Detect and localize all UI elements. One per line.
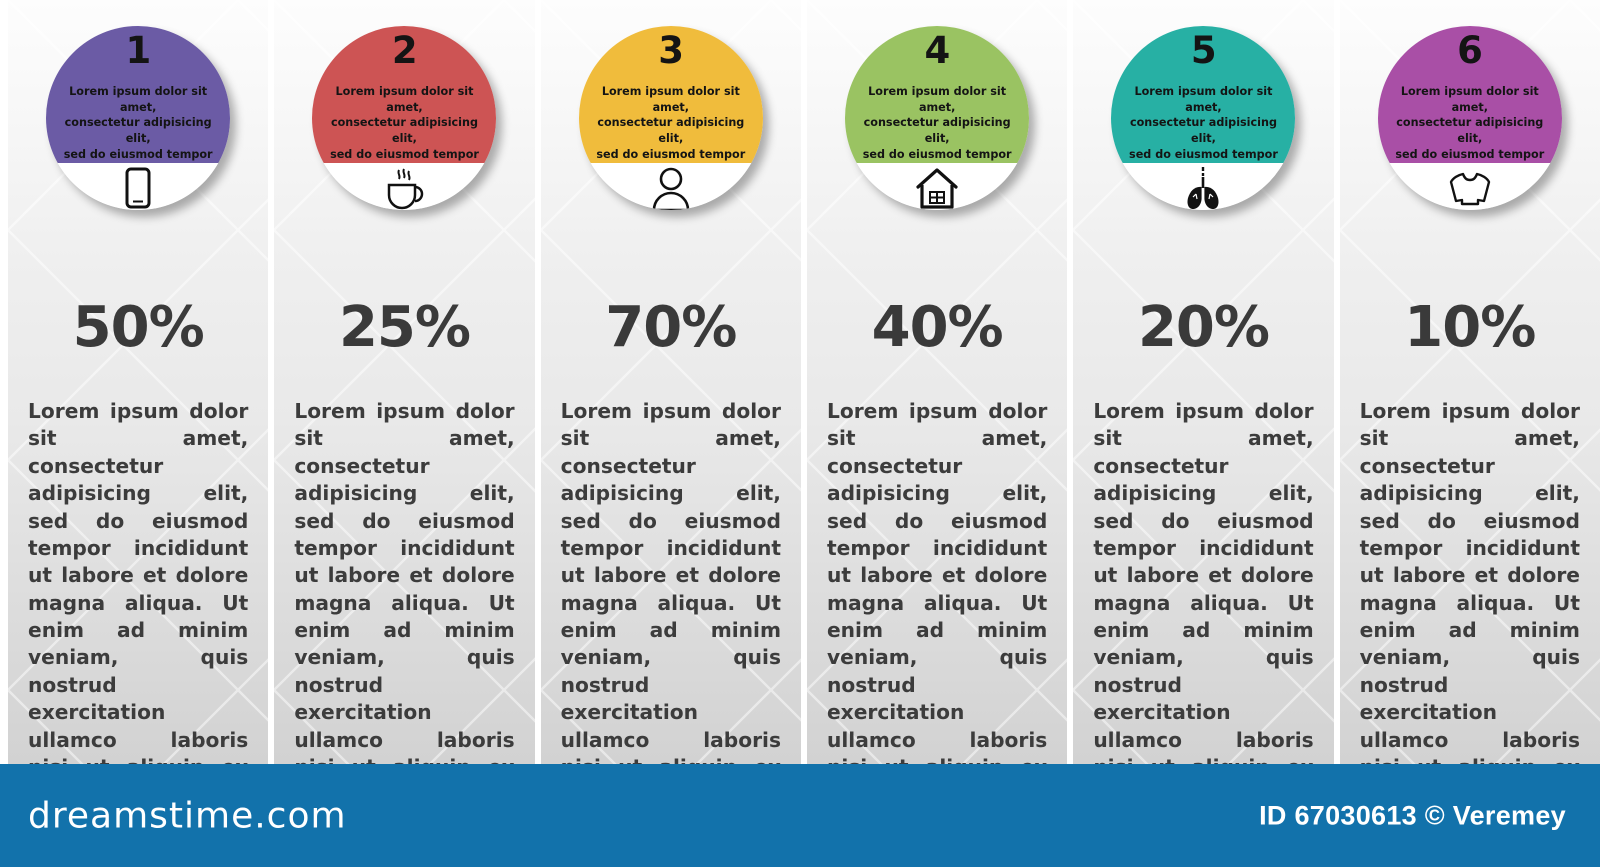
image-credit-text: ID 67030613 © Veremey <box>1259 800 1566 831</box>
lungs-icon <box>1180 166 1226 210</box>
step-number: 3 <box>579 32 763 69</box>
step-badge-5[interactable]: 5 Lorem ipsum dolor sit amet, consectetu… <box>1111 26 1295 210</box>
infographic-column-5: 5 Lorem ipsum dolor sit amet, consectetu… <box>1073 0 1333 764</box>
step-caption: Lorem ipsum dolor sit amet, consectetur … <box>585 84 757 162</box>
infographic-column-4: 4 Lorem ipsum dolor sit amet, consectetu… <box>807 0 1067 764</box>
step-number: 5 <box>1111 32 1295 69</box>
step-circle: 6 Lorem ipsum dolor sit amet, consectetu… <box>1378 26 1562 210</box>
sweater-icon <box>1447 166 1493 210</box>
house-icon <box>914 166 960 210</box>
person-icon <box>648 166 694 210</box>
infographic-column-3: 3 Lorem ipsum dolor sit amet, consectetu… <box>541 0 801 764</box>
step-number: 2 <box>312 32 496 69</box>
step-badge-6[interactable]: 6 Lorem ipsum dolor sit amet, consectetu… <box>1378 26 1562 210</box>
step-badge-1[interactable]: 1 Lorem ipsum dolor sit amet, consectetu… <box>46 26 230 210</box>
step-number: 6 <box>1378 32 1562 69</box>
percent-value: 20% <box>1073 300 1333 356</box>
step-circle: 2 Lorem ipsum dolor sit amet, consectetu… <box>312 26 496 210</box>
step-circle: 1 Lorem ipsum dolor sit amet, consectetu… <box>46 26 230 210</box>
step-caption: Lorem ipsum dolor sit amet, consectetur … <box>52 84 224 162</box>
infographic-canvas: 1 Lorem ipsum dolor sit amet, consectetu… <box>0 0 1600 867</box>
percent-value: 10% <box>1340 300 1600 356</box>
percent-value: 40% <box>807 300 1067 356</box>
step-circle: 4 Lorem ipsum dolor sit amet, consectetu… <box>845 26 1029 210</box>
percent-value: 50% <box>8 300 268 356</box>
percent-value: 25% <box>274 300 534 356</box>
dreamstime-logo: dreamstime.com <box>28 795 347 836</box>
footer-watermark-bar: dreamstime.com ID 67030613 © Veremey <box>0 764 1600 867</box>
step-badge-2[interactable]: 2 Lorem ipsum dolor sit amet, consectetu… <box>312 26 496 210</box>
step-caption: Lorem ipsum dolor sit amet, consectetur … <box>318 84 490 162</box>
step-number: 4 <box>845 32 1029 69</box>
step-circle: 3 Lorem ipsum dolor sit amet, consectetu… <box>579 26 763 210</box>
infographic-column-1: 1 Lorem ipsum dolor sit amet, consectetu… <box>8 0 268 764</box>
step-caption: Lorem ipsum dolor sit amet, consectetur … <box>851 84 1023 162</box>
percent-value: 70% <box>541 300 801 356</box>
infographic-column-2: 2 Lorem ipsum dolor sit amet, consectetu… <box>274 0 534 764</box>
infographic-column-6: 6 Lorem ipsum dolor sit amet, consectetu… <box>1340 0 1600 764</box>
step-circle: 5 Lorem ipsum dolor sit amet, consectetu… <box>1111 26 1295 210</box>
step-caption: Lorem ipsum dolor sit amet, consectetur … <box>1117 84 1289 162</box>
step-caption: Lorem ipsum dolor sit amet, consectetur … <box>1384 84 1556 162</box>
dreamstime-logo-text: dreamstime.com <box>28 795 347 836</box>
step-number: 1 <box>46 32 230 69</box>
columns-container: 1 Lorem ipsum dolor sit amet, consectetu… <box>0 0 1600 764</box>
smartphone-icon <box>115 166 161 210</box>
step-badge-3[interactable]: 3 Lorem ipsum dolor sit amet, consectetu… <box>579 26 763 210</box>
step-badge-4[interactable]: 4 Lorem ipsum dolor sit amet, consectetu… <box>845 26 1029 210</box>
coffee-cup-icon <box>381 166 427 210</box>
